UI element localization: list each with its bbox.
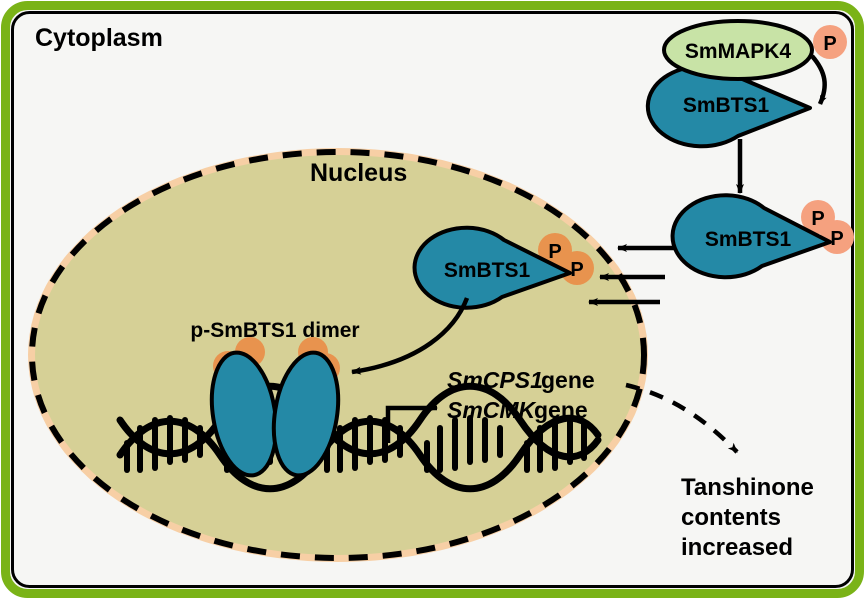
phosphate-label: P	[830, 228, 843, 250]
nucleus-body	[35, 155, 641, 555]
gene-suffix-smcps1: gene	[541, 367, 595, 393]
gene-suffix-smcmk: gene	[534, 397, 588, 423]
outcome-line-2: contents	[681, 504, 781, 531]
outcome-line-3: increased	[681, 534, 793, 561]
outcome-line-1: Tanshinone	[681, 474, 814, 501]
gene-name-smcps1: SmCPS1	[447, 367, 543, 393]
smbts1-cytoplasm-label: SmBTS1	[705, 228, 792, 251]
nucleus	[28, 148, 648, 562]
smbts1-membrane-label: SmBTS1	[683, 94, 770, 117]
phosphate-label: P	[548, 241, 561, 263]
smmapk4-label: SmMAPK4	[685, 40, 792, 63]
phosphate-label: P	[823, 33, 836, 55]
gene-name-smcmk: SmCMK	[447, 397, 537, 423]
cytoplasm-label: Cytoplasm	[35, 24, 163, 52]
dimer-label: p-SmBTS1 dimer	[190, 319, 359, 342]
phosphate-label: P	[570, 259, 583, 281]
smbts1-nucleus-label: SmBTS1	[444, 259, 531, 282]
nucleus-label: Nucleus	[310, 159, 407, 187]
phosphate-label: P	[811, 208, 824, 230]
pathway-figure: p-SmBTS1 dimer P P SmBTS1 SmCPS1 gene Sm…	[0, 0, 865, 599]
